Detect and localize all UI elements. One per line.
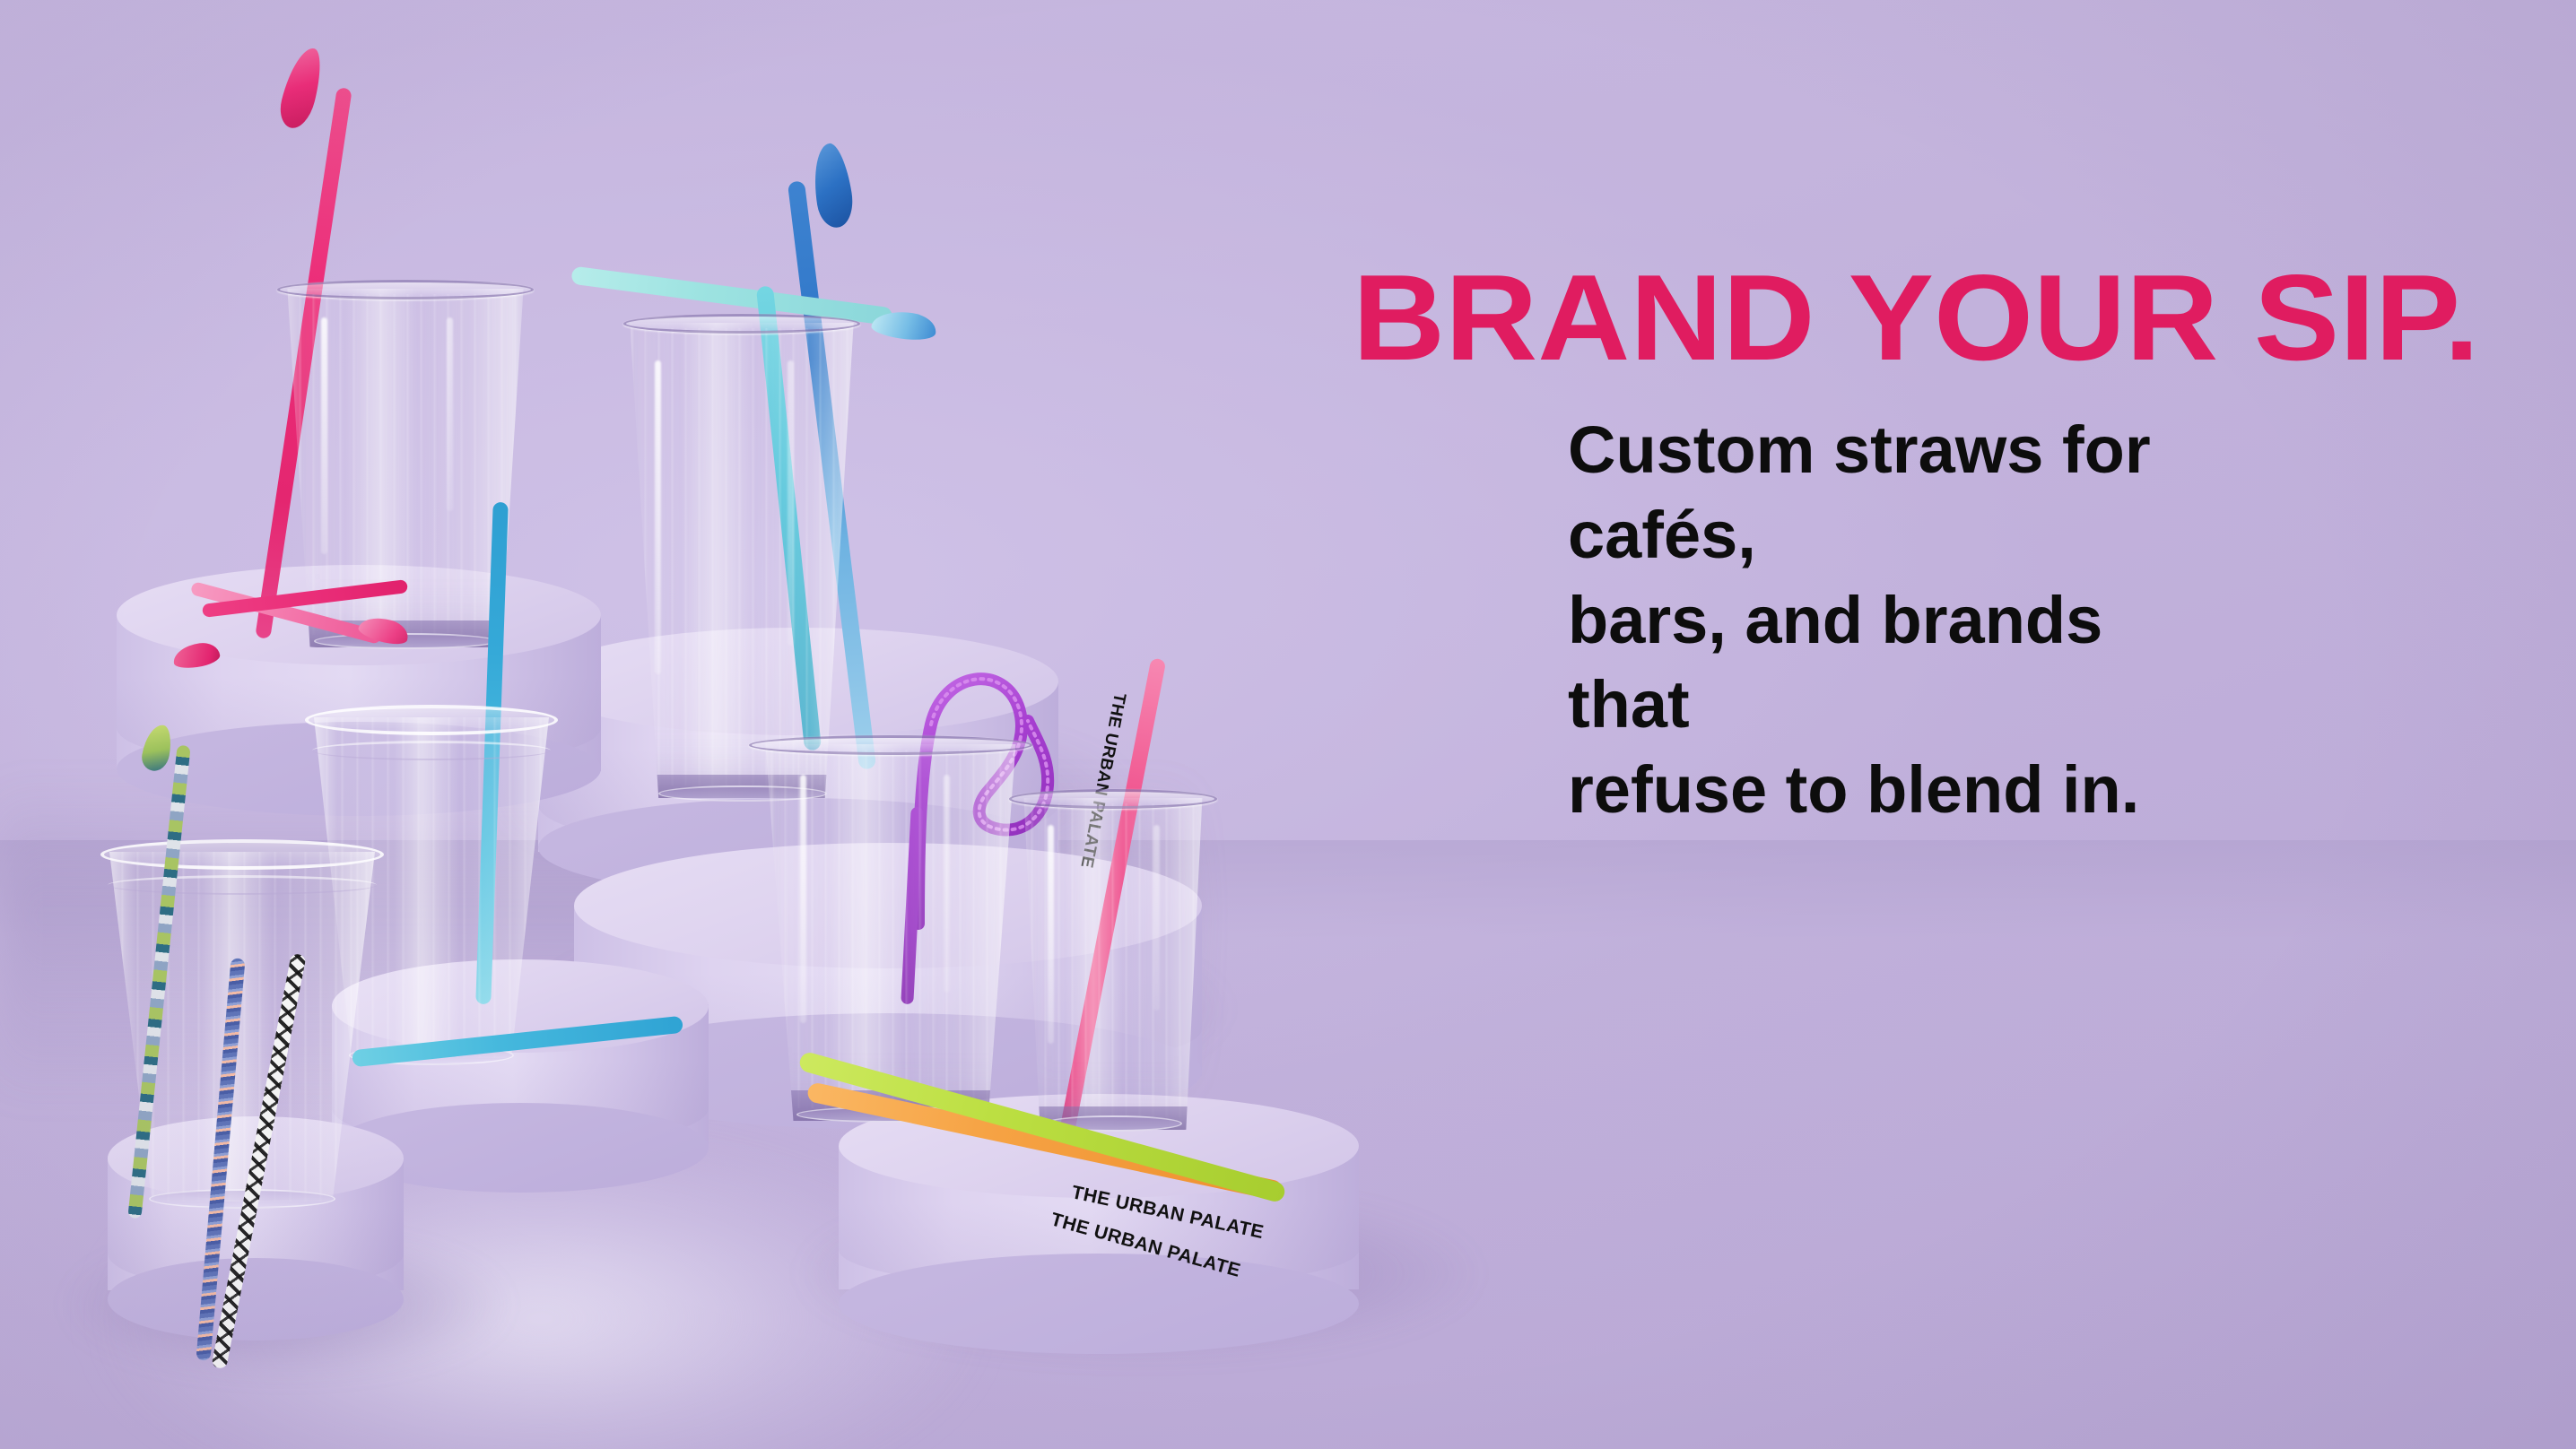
hero-subheadline-line-3: refuse to blend in. bbox=[1568, 748, 2160, 833]
hero-subheadline-line-2: bars, and brands that bbox=[1568, 578, 2160, 748]
hero-subheadline: Custom straws for cafés, bars, and brand… bbox=[1353, 374, 2160, 833]
brand-your-sip-hero-banner: THE URBAN PALATE THE URBAN PALAT bbox=[0, 0, 2576, 1449]
page-title: BRAND YOUR SIP. bbox=[1353, 262, 2539, 374]
hero-copy-block: BRAND YOUR SIP. Custom straws for cafés,… bbox=[1353, 262, 2483, 833]
hero-subheadline-line-1: Custom straws for cafés, bbox=[1568, 408, 2160, 577]
